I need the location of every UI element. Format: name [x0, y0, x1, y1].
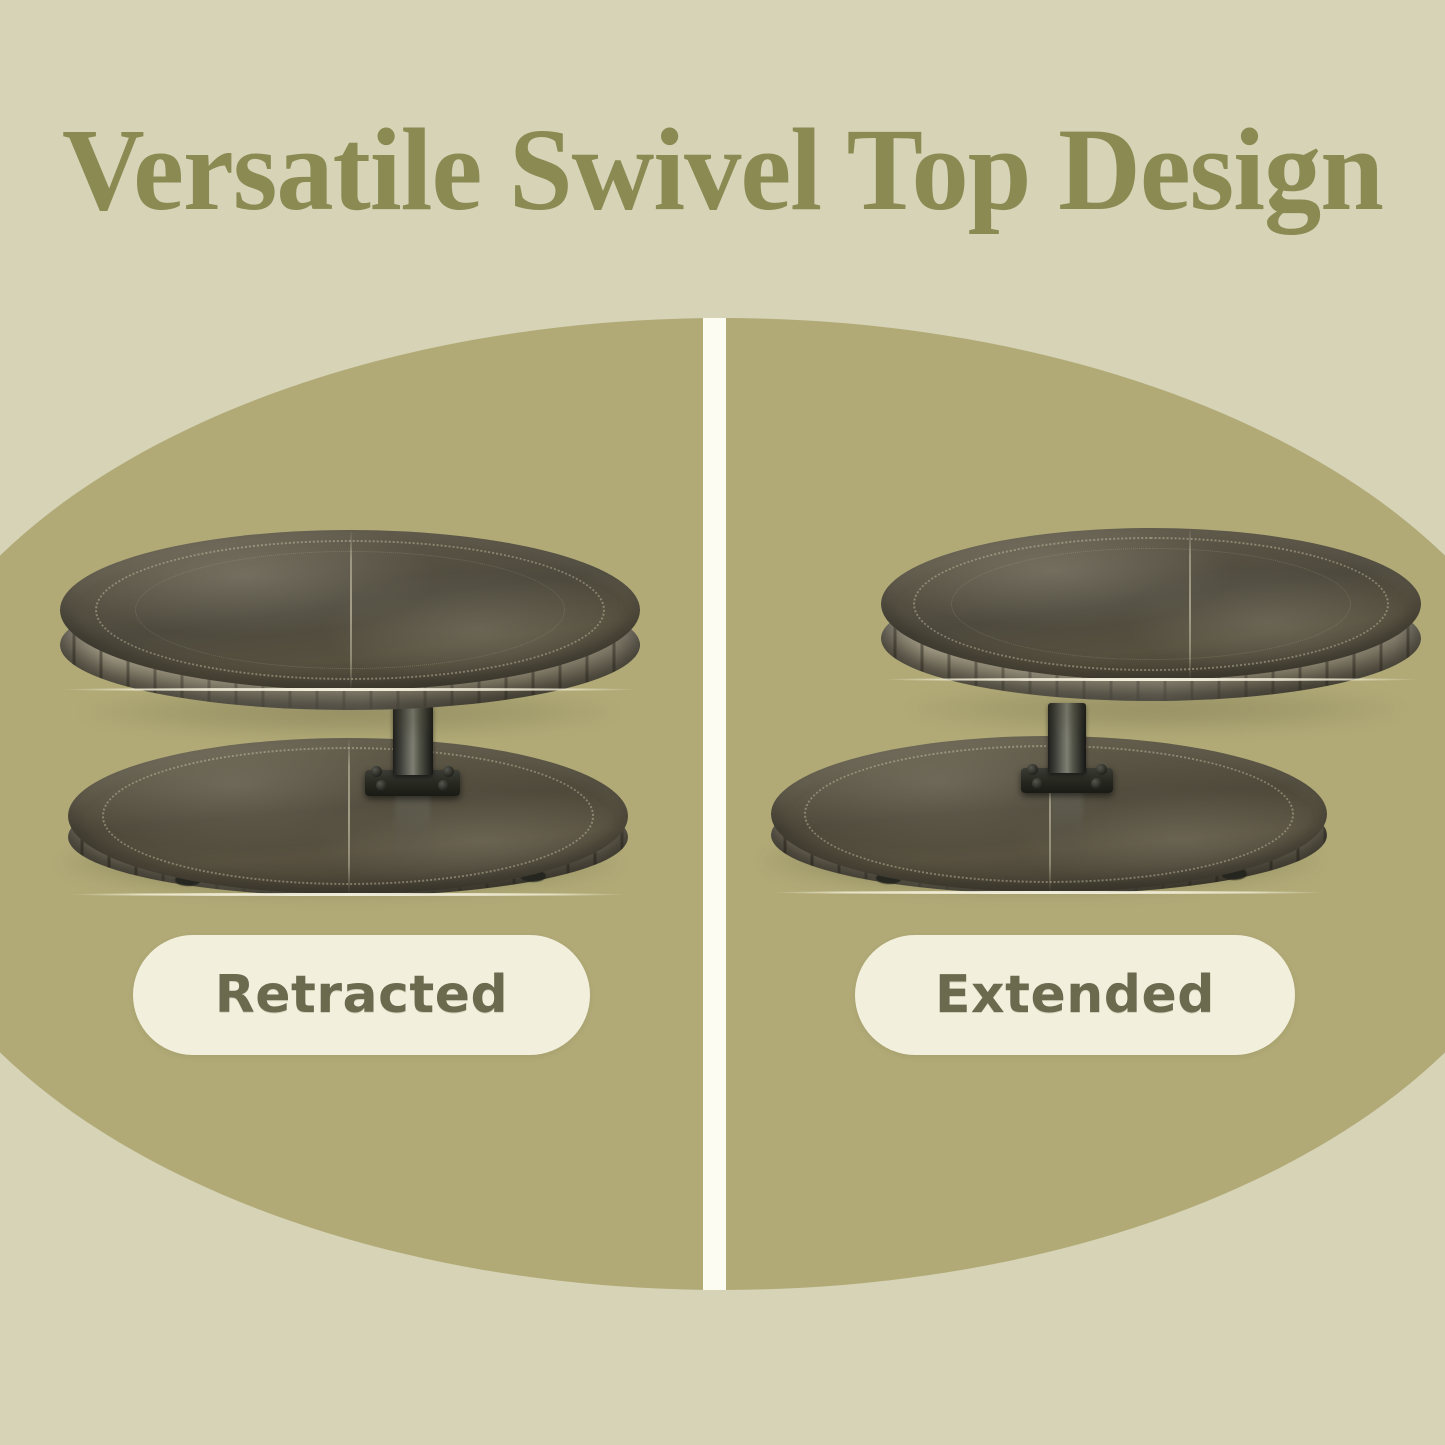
page-title: Versatile Swivel Top Design [22, 108, 1424, 232]
state-badge-extended-label: Extended [935, 965, 1215, 1025]
pedestal-reflection-left [395, 788, 430, 868]
state-badge-retracted-label: Retracted [215, 965, 509, 1025]
comparison-half-retracted: Retracted [0, 318, 703, 1290]
pedestal-bolt-right-4 [1091, 778, 1102, 789]
top-rivet-ring-inner-right [951, 548, 1351, 661]
pedestal-bolt-left-1 [371, 766, 382, 777]
base-seam-left [348, 738, 350, 894]
base-top-surface-left [68, 738, 628, 894]
base-weld-line-left [68, 893, 628, 896]
comparison-half-extended: Extended [726, 318, 1445, 1290]
product-feature-graphic: Versatile Swivel Top Design [0, 0, 1445, 1445]
pedestal-bolt-right-1 [1027, 764, 1038, 775]
top-seam-left [350, 530, 352, 690]
pedestal-bolt-left-3 [376, 780, 387, 791]
base-weld-line-right [771, 891, 1327, 894]
comparison-divider [703, 318, 726, 1290]
pedestal-bolt-left-2 [443, 766, 454, 777]
pedestal-reflection-right [1051, 786, 1083, 864]
top-surface-right [881, 528, 1421, 680]
state-badge-extended[interactable]: Extended [855, 935, 1295, 1055]
pedestal-bolt-right-3 [1032, 778, 1043, 789]
pedestal-bolt-left-4 [438, 780, 449, 791]
pedestal-bolt-right-2 [1096, 764, 1107, 775]
top-surface-left [60, 530, 640, 690]
state-badge-retracted[interactable]: Retracted [133, 935, 590, 1055]
top-weld-line-left [60, 688, 640, 691]
top-seam-right [1189, 528, 1191, 680]
top-weld-line-right [881, 678, 1421, 681]
